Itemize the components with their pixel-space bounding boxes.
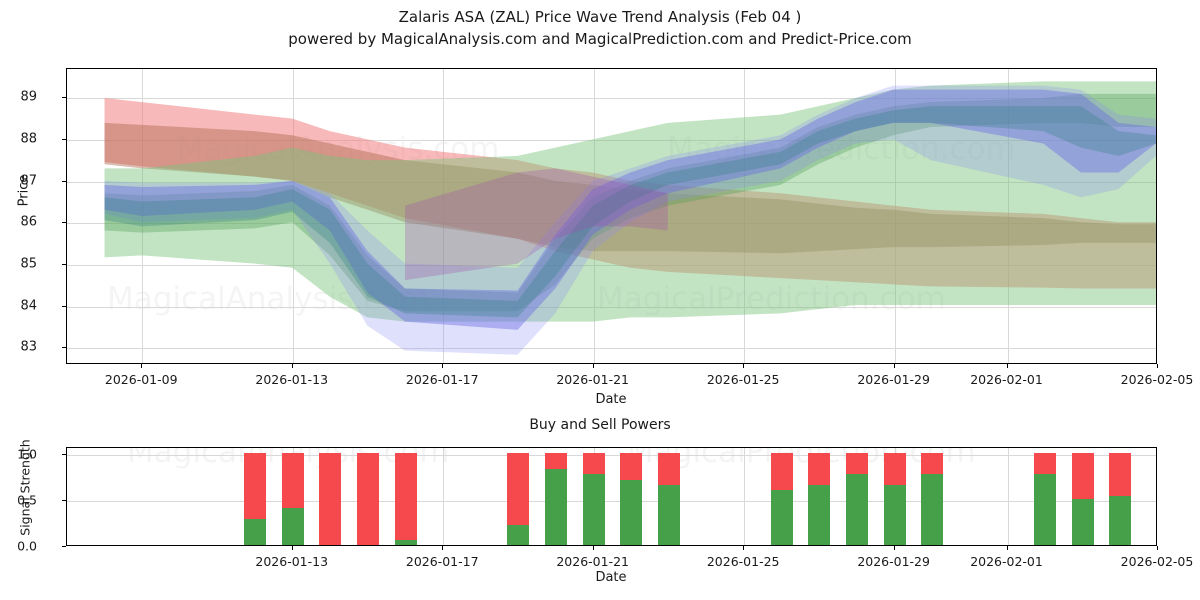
sell-power-segment	[658, 453, 680, 484]
price-x-tick-mark	[894, 364, 895, 368]
buy-power-segment	[1034, 474, 1056, 545]
price-x-tick-label: 2026-01-21	[523, 372, 663, 387]
price-wave-chart: MagicalAnalysis.comMagicalPrediction.com…	[66, 68, 1157, 364]
price-y-axis-label: Price	[17, 131, 32, 251]
price-x-tick-mark	[743, 364, 744, 368]
gridline-vertical	[443, 448, 444, 545]
price-band-layers	[67, 69, 1156, 363]
price-y-tick-mark	[62, 222, 66, 223]
sell-power-segment	[884, 453, 906, 484]
page-title: Zalaris ASA (ZAL) Price Wave Trend Analy…	[0, 6, 1200, 28]
sell-power-segment	[921, 453, 943, 473]
sell-power-segment	[771, 453, 793, 490]
bar-y-tick-mark	[62, 454, 66, 455]
bar-x-tick-label: 2026-02-01	[937, 554, 1077, 569]
buy-power-segment	[583, 474, 605, 545]
buy-power-segment	[244, 519, 266, 545]
price-x-tick-mark	[1157, 364, 1158, 368]
price-y-tick-mark	[62, 306, 66, 307]
page-subtitle: powered by MagicalAnalysis.com and Magic…	[0, 28, 1200, 50]
bar-x-tick-mark	[1157, 546, 1158, 550]
price-x-tick-mark	[593, 364, 594, 368]
bar-stack[interactable]	[319, 453, 341, 545]
bar-stack[interactable]	[1072, 453, 1094, 545]
sell-power-segment	[846, 453, 868, 473]
title-block: Zalaris ASA (ZAL) Price Wave Trend Analy…	[0, 6, 1200, 50]
bar-x-tick-label: 2026-02-05	[1087, 554, 1200, 569]
price-y-tick-label: 83	[0, 340, 37, 355]
bar-stack[interactable]	[545, 453, 567, 545]
bar-stack[interactable]	[395, 453, 417, 545]
bar-stack[interactable]	[1109, 453, 1131, 545]
bar-x-tick-mark	[442, 546, 443, 550]
bar-x-tick-mark	[593, 546, 594, 550]
bar-stack[interactable]	[884, 453, 906, 545]
bar-x-tick-label: 2026-01-21	[523, 554, 663, 569]
bar-x-tick-label: 2026-01-13	[222, 554, 362, 569]
bar-y-tick-mark	[62, 500, 66, 501]
price-x-axis-label: Date	[551, 392, 671, 407]
buy-sell-powers-chart: MagicalAnalysis.comMagicalPrediction.com	[66, 447, 1157, 546]
price-y-tick-mark	[62, 181, 66, 182]
price-x-tick-mark	[1007, 364, 1008, 368]
bar-y-tick-mark	[62, 546, 66, 547]
bar-x-tick-label: 2026-01-25	[673, 554, 813, 569]
price-x-tick-label: 2026-02-01	[937, 372, 1077, 387]
gridline-horizontal	[67, 455, 1156, 456]
price-y-tick-mark	[62, 264, 66, 265]
buy-power-segment	[1072, 499, 1094, 545]
bar-y-axis-label: Signal Strength	[18, 408, 33, 568]
sell-power-segment	[282, 453, 304, 508]
price-x-tick-mark	[292, 364, 293, 368]
sell-power-segment	[357, 453, 379, 545]
buy-power-segment	[921, 474, 943, 545]
bar-x-tick-label: 2026-01-17	[372, 554, 512, 569]
sell-power-segment	[545, 453, 567, 469]
chart-page: Zalaris ASA (ZAL) Price Wave Trend Analy…	[0, 0, 1200, 600]
bar-chart-title: Buy and Sell Powers	[450, 417, 750, 433]
gridline-vertical	[744, 448, 745, 545]
gridline-horizontal	[67, 501, 1156, 502]
sell-power-segment	[583, 453, 605, 474]
price-y-tick-mark	[62, 139, 66, 140]
bar-stack[interactable]	[1034, 453, 1056, 545]
price-y-tick-label: 89	[0, 90, 37, 105]
bar-stack[interactable]	[507, 453, 529, 545]
sell-power-segment	[395, 453, 417, 540]
buy-power-segment	[1109, 496, 1131, 545]
buy-power-segment	[846, 474, 868, 545]
sell-power-segment	[1109, 453, 1131, 495]
buy-power-segment	[282, 508, 304, 545]
bar-x-tick-mark	[1007, 546, 1008, 550]
sell-power-segment	[620, 453, 642, 480]
price-x-tick-label: 2026-01-25	[673, 372, 813, 387]
sell-power-segment	[319, 453, 341, 545]
buy-power-segment	[808, 485, 830, 545]
bar-stack[interactable]	[771, 453, 793, 545]
buy-power-segment	[545, 469, 567, 545]
bar-stack[interactable]	[846, 453, 868, 545]
price-x-tick-label: 2026-02-05	[1087, 372, 1200, 387]
bar-x-tick-mark	[743, 546, 744, 550]
price-y-tick-mark	[62, 97, 66, 98]
buy-power-segment	[771, 490, 793, 545]
bar-x-tick-mark	[894, 546, 895, 550]
sell-power-segment	[507, 453, 529, 524]
buy-power-segment	[884, 485, 906, 545]
sell-power-segment	[1034, 453, 1056, 474]
buy-power-segment	[620, 480, 642, 545]
bar-stack[interactable]	[357, 453, 379, 545]
bar-stack[interactable]	[620, 453, 642, 545]
bar-stack[interactable]	[583, 453, 605, 545]
price-x-tick-mark	[442, 364, 443, 368]
bar-stack[interactable]	[921, 453, 943, 545]
price-y-tick-label: 84	[0, 298, 37, 313]
buy-power-segment	[507, 525, 529, 545]
bar-stack[interactable]	[244, 453, 266, 545]
gridline-vertical	[1008, 448, 1009, 545]
sell-power-segment	[244, 453, 266, 519]
sell-power-segment	[1072, 453, 1094, 499]
bar-stack[interactable]	[658, 453, 680, 545]
price-y-tick-mark	[62, 347, 66, 348]
price-y-tick-label: 85	[0, 256, 37, 271]
price-x-tick-label: 2026-01-09	[71, 372, 211, 387]
bar-x-axis-label: Date	[551, 570, 671, 585]
price-x-tick-label: 2026-01-17	[372, 372, 512, 387]
sell-power-segment	[808, 453, 830, 484]
buy-power-segment	[658, 485, 680, 545]
price-x-tick-mark	[141, 364, 142, 368]
bar-stack[interactable]	[808, 453, 830, 545]
price-x-tick-label: 2026-01-13	[222, 372, 362, 387]
bar-x-tick-mark	[292, 546, 293, 550]
bar-stack[interactable]	[282, 453, 304, 545]
buy-power-segment	[395, 540, 417, 545]
